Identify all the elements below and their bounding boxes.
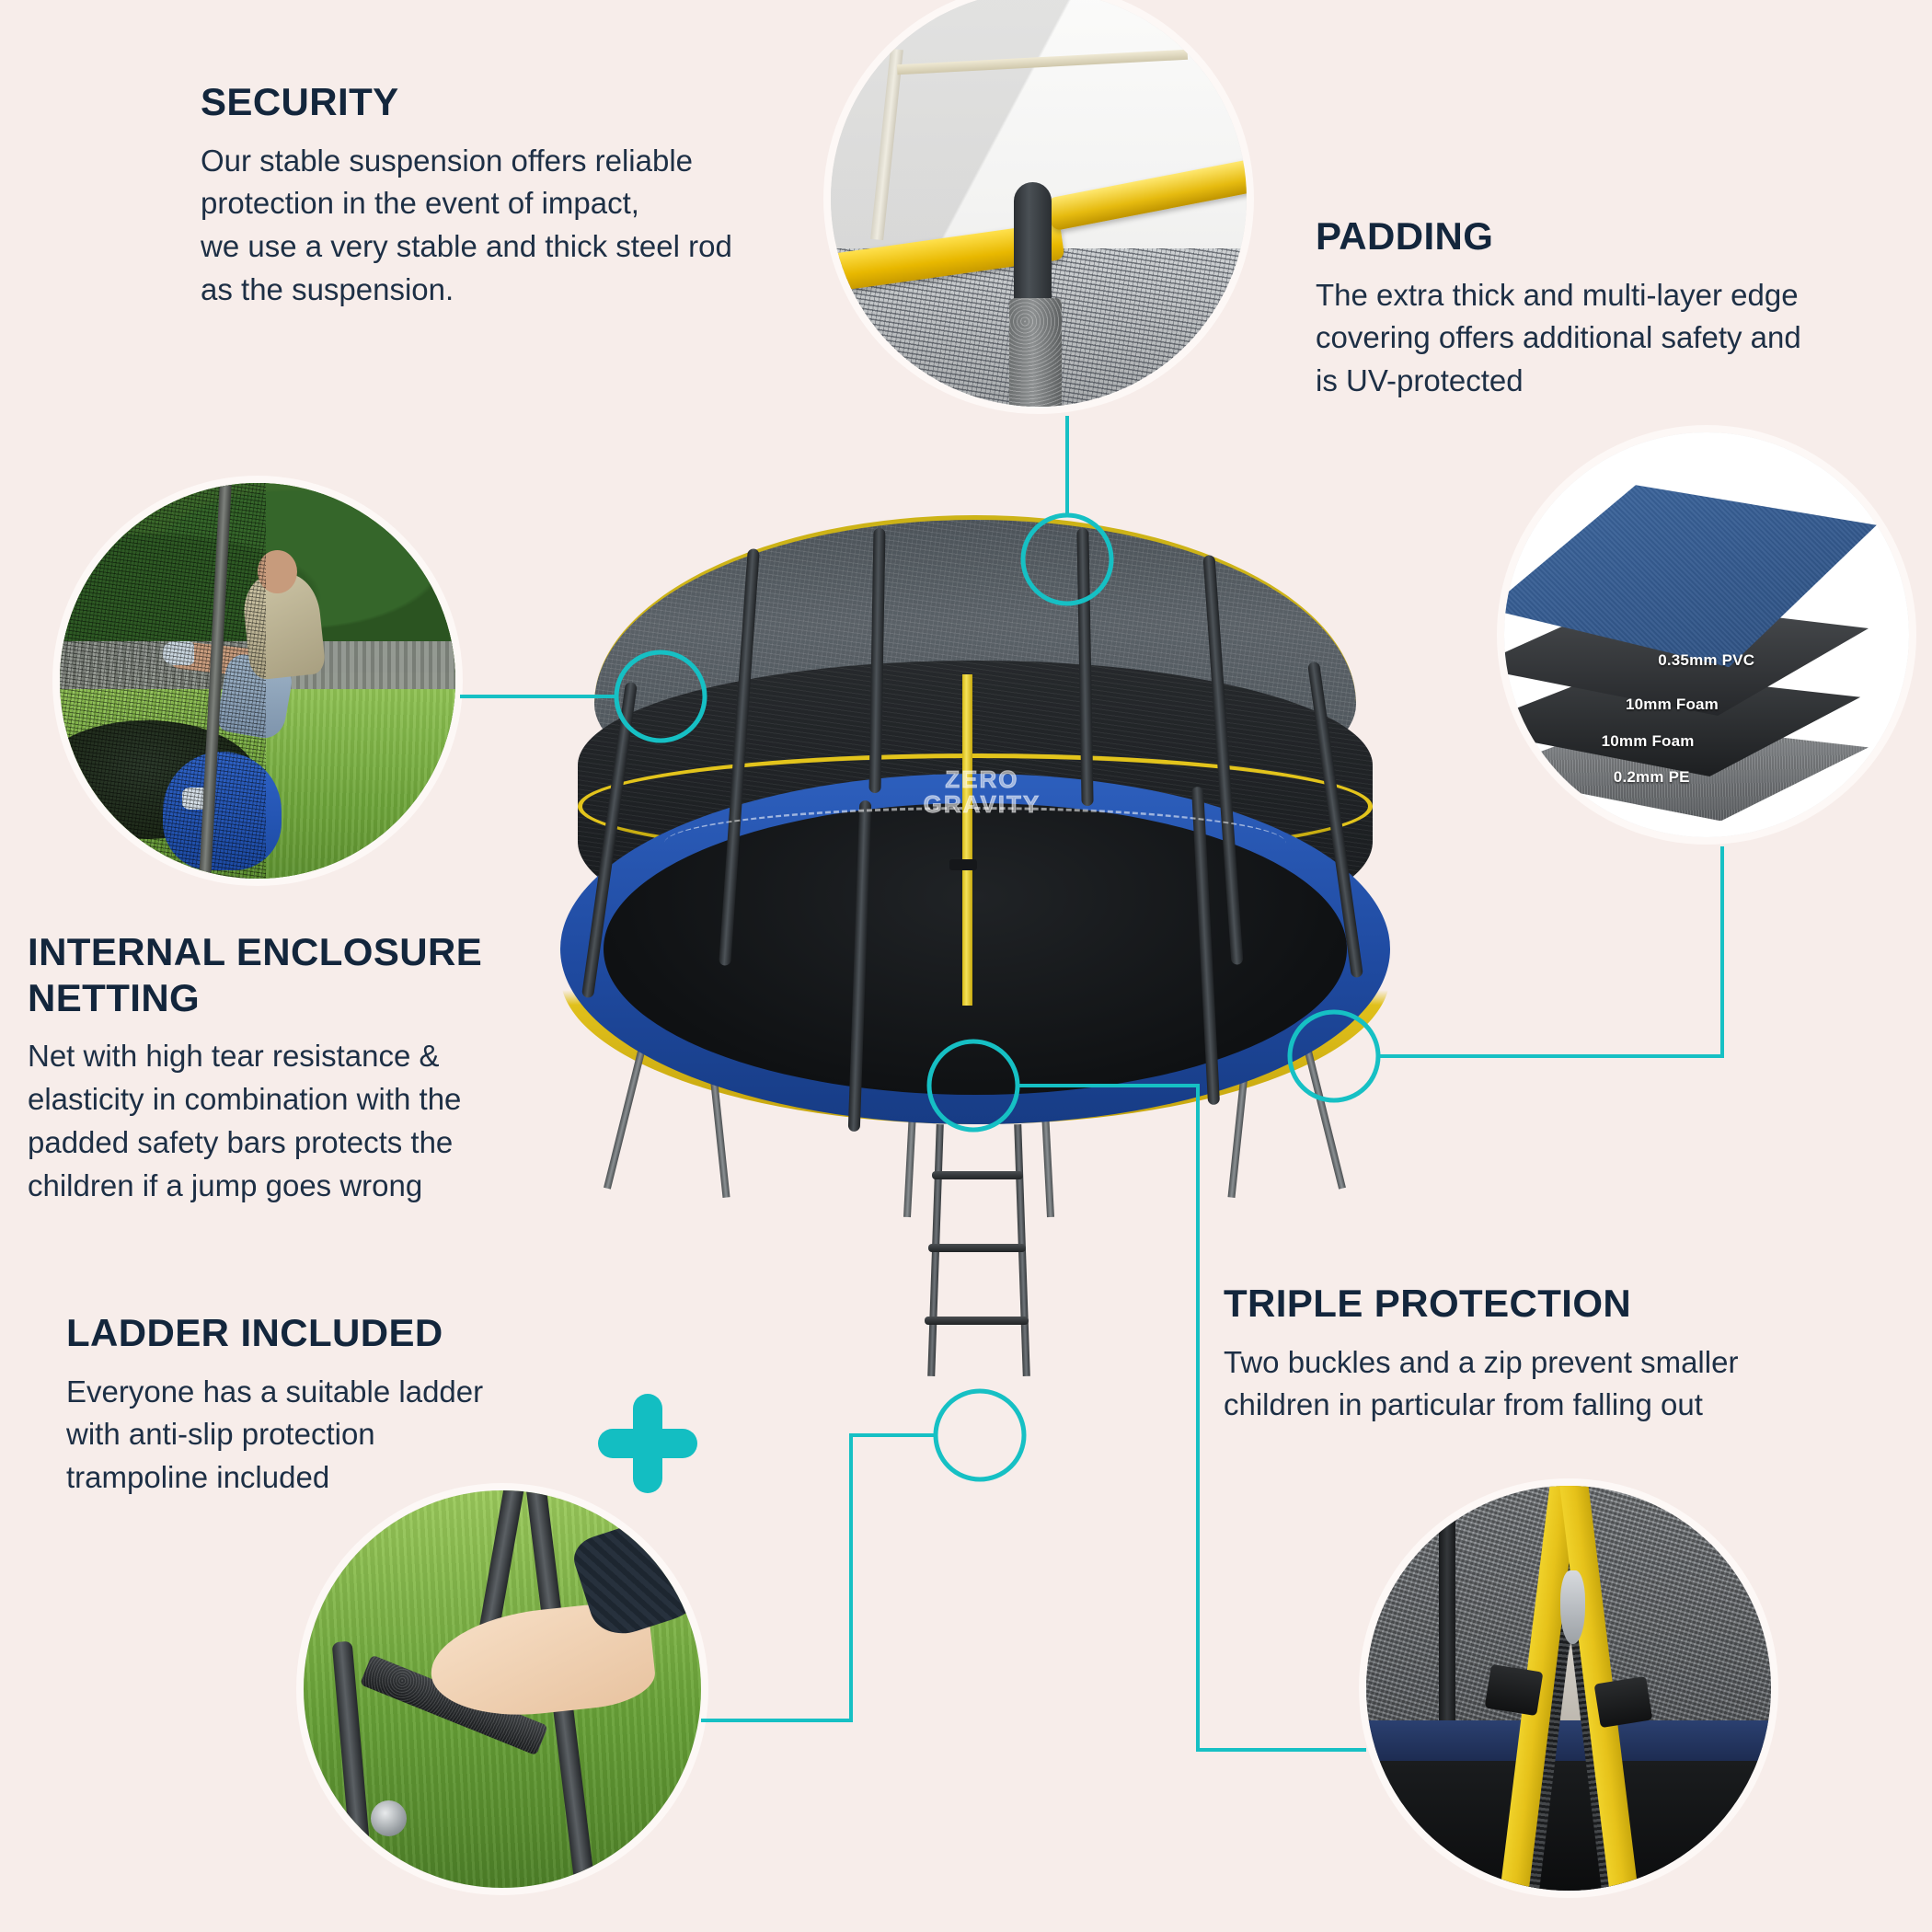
- feature-security-title: SECURITY: [201, 79, 789, 125]
- feature-netting-body: Net with high tear resistance & elastici…: [28, 1035, 580, 1207]
- zipper-pull: [1560, 1570, 1584, 1643]
- safety-buckle-left: [1485, 1664, 1544, 1717]
- ladder-bolt: [371, 1800, 407, 1836]
- trampoline-leg: [903, 1111, 916, 1217]
- brand-logo: ZERO GRAVITY: [924, 767, 1041, 818]
- ladder-step: [928, 1244, 1026, 1252]
- net-overlay-texture: [60, 483, 266, 879]
- jump-mat-strip: [1366, 1761, 1771, 1891]
- brand-logo-line1: ZERO: [924, 767, 1041, 792]
- trampoline-leg: [604, 1046, 646, 1190]
- yellow-rim-cover-right: [1046, 149, 1247, 231]
- feature-padding-title: PADDING: [1316, 213, 1904, 259]
- feature-netting-title: INTERNAL ENCLOSURE NETTING: [28, 929, 580, 1020]
- layer-label-foam-2: 10mm Foam: [1602, 732, 1695, 751]
- photo-enclosure-netting: [60, 483, 455, 879]
- feature-security-body: Our stable suspension offers reliable pr…: [201, 140, 789, 312]
- plus-icon-bar-vertical: [633, 1394, 662, 1493]
- safety-buckle-right: [1593, 1676, 1652, 1729]
- layer-label-pe: 0.2mm PE: [1614, 768, 1690, 787]
- feature-triple-body: Two buckles and a zip prevent smaller ch…: [1224, 1341, 1868, 1428]
- connector-padding: [1378, 846, 1722, 1056]
- trampoline-leg: [1304, 1046, 1346, 1190]
- ladder-step: [932, 1171, 1023, 1179]
- steel-rod-horizontal: [897, 50, 1189, 75]
- feature-ladder-body: Everyone has a suitable ladder with anti…: [66, 1371, 581, 1501]
- callout-ring-ladder: [936, 1391, 1024, 1479]
- enclosure-pole-behind-net: [1439, 1486, 1455, 1720]
- trampoline-product-image: ZERO GRAVITY: [543, 515, 1408, 1178]
- photo-security-pole-cap: [831, 0, 1247, 407]
- enclosure-buckle: [949, 859, 977, 870]
- trampoline-leg: [1041, 1111, 1054, 1217]
- ladder-step: [925, 1317, 1029, 1325]
- blue-pad-strip: [1366, 1720, 1771, 1761]
- feature-padding-body: The extra thick and multi-layer edge cov…: [1316, 274, 1904, 404]
- steel-rod-thin: [870, 49, 903, 240]
- feature-padding: PADDING The extra thick and multi-layer …: [1316, 213, 1904, 403]
- layer-label-pvc: 0.35mm PVC: [1658, 651, 1754, 670]
- photo-ladder-antislip: [304, 1490, 701, 1888]
- photo-zip-and-buckles: [1366, 1486, 1771, 1891]
- brand-logo-line2: GRAVITY: [924, 792, 1041, 817]
- layer-label-foam-1: 10mm Foam: [1626, 696, 1719, 714]
- feature-ladder-included: LADDER INCLUDED Everyone has a suitable …: [66, 1310, 581, 1500]
- enclosure-zipper: [962, 674, 972, 1006]
- feature-security: SECURITY Our stable suspension offers re…: [201, 79, 789, 312]
- photo-padding-layers: 0.35mm PVC 10mm Foam 10mm Foam 0.2mm PE: [1504, 432, 1909, 837]
- pole-foam-sleeve: [1009, 298, 1062, 407]
- feature-triple-protection: TRIPLE PROTECTION Two buckles and a zip …: [1224, 1281, 1868, 1427]
- feature-ladder-title: LADDER INCLUDED: [66, 1310, 581, 1356]
- feature-triple-title: TRIPLE PROTECTION: [1224, 1281, 1868, 1327]
- plus-icon: [598, 1394, 697, 1493]
- feature-internal-enclosure-netting: INTERNAL ENCLOSURE NETTING Net with high…: [28, 929, 580, 1208]
- connector-ladder: [701, 1435, 936, 1720]
- infographic-canvas: ZERO GRAVITY: [0, 0, 1932, 1932]
